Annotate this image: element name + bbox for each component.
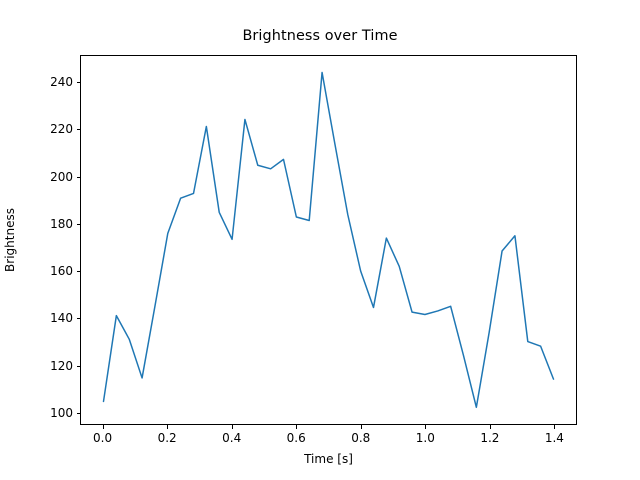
figure-canvas: Brightness over Time Brightness Time [s]… bbox=[0, 0, 640, 480]
line-chart-svg bbox=[81, 56, 576, 424]
y-axis-tick-label: 200 bbox=[40, 170, 73, 184]
x-axis-tick-mark bbox=[361, 425, 362, 429]
y-axis-label: Brightness bbox=[0, 55, 20, 425]
y-axis-tick-label: 180 bbox=[40, 217, 73, 231]
x-axis-tick-mark bbox=[103, 425, 104, 429]
y-axis-tick-label: 120 bbox=[40, 359, 73, 373]
y-axis-tick-label: 220 bbox=[40, 122, 73, 136]
page-title: Brightness over Time bbox=[0, 28, 640, 44]
x-axis-tick-mark bbox=[296, 425, 297, 429]
x-axis-tick-mark bbox=[232, 425, 233, 429]
y-axis-tick-label: 100 bbox=[40, 406, 73, 420]
y-axis-tick-label: 160 bbox=[40, 264, 73, 278]
x-axis-tick-label: 1.0 bbox=[416, 431, 435, 445]
x-axis-tick-mark bbox=[425, 425, 426, 429]
x-axis-label: Time [s] bbox=[80, 452, 577, 466]
x-axis-tick-label: 0.6 bbox=[287, 431, 306, 445]
x-axis-tick-mark bbox=[490, 425, 491, 429]
x-axis-tick-label: 0.8 bbox=[351, 431, 370, 445]
x-axis-tick-label: 0.0 bbox=[93, 431, 112, 445]
y-axis-tick-label: 240 bbox=[40, 75, 73, 89]
x-axis-tick-label: 1.2 bbox=[480, 431, 499, 445]
x-axis-tick-mark bbox=[554, 425, 555, 429]
plot-area bbox=[80, 55, 577, 425]
x-axis-tick-label: 1.4 bbox=[545, 431, 564, 445]
x-axis-tick-label: 0.2 bbox=[158, 431, 177, 445]
x-axis-tick-label: 0.4 bbox=[222, 431, 241, 445]
brightness-series-line bbox=[103, 72, 553, 407]
y-axis-tick-label: 140 bbox=[40, 311, 73, 325]
x-axis-tick-mark bbox=[167, 425, 168, 429]
